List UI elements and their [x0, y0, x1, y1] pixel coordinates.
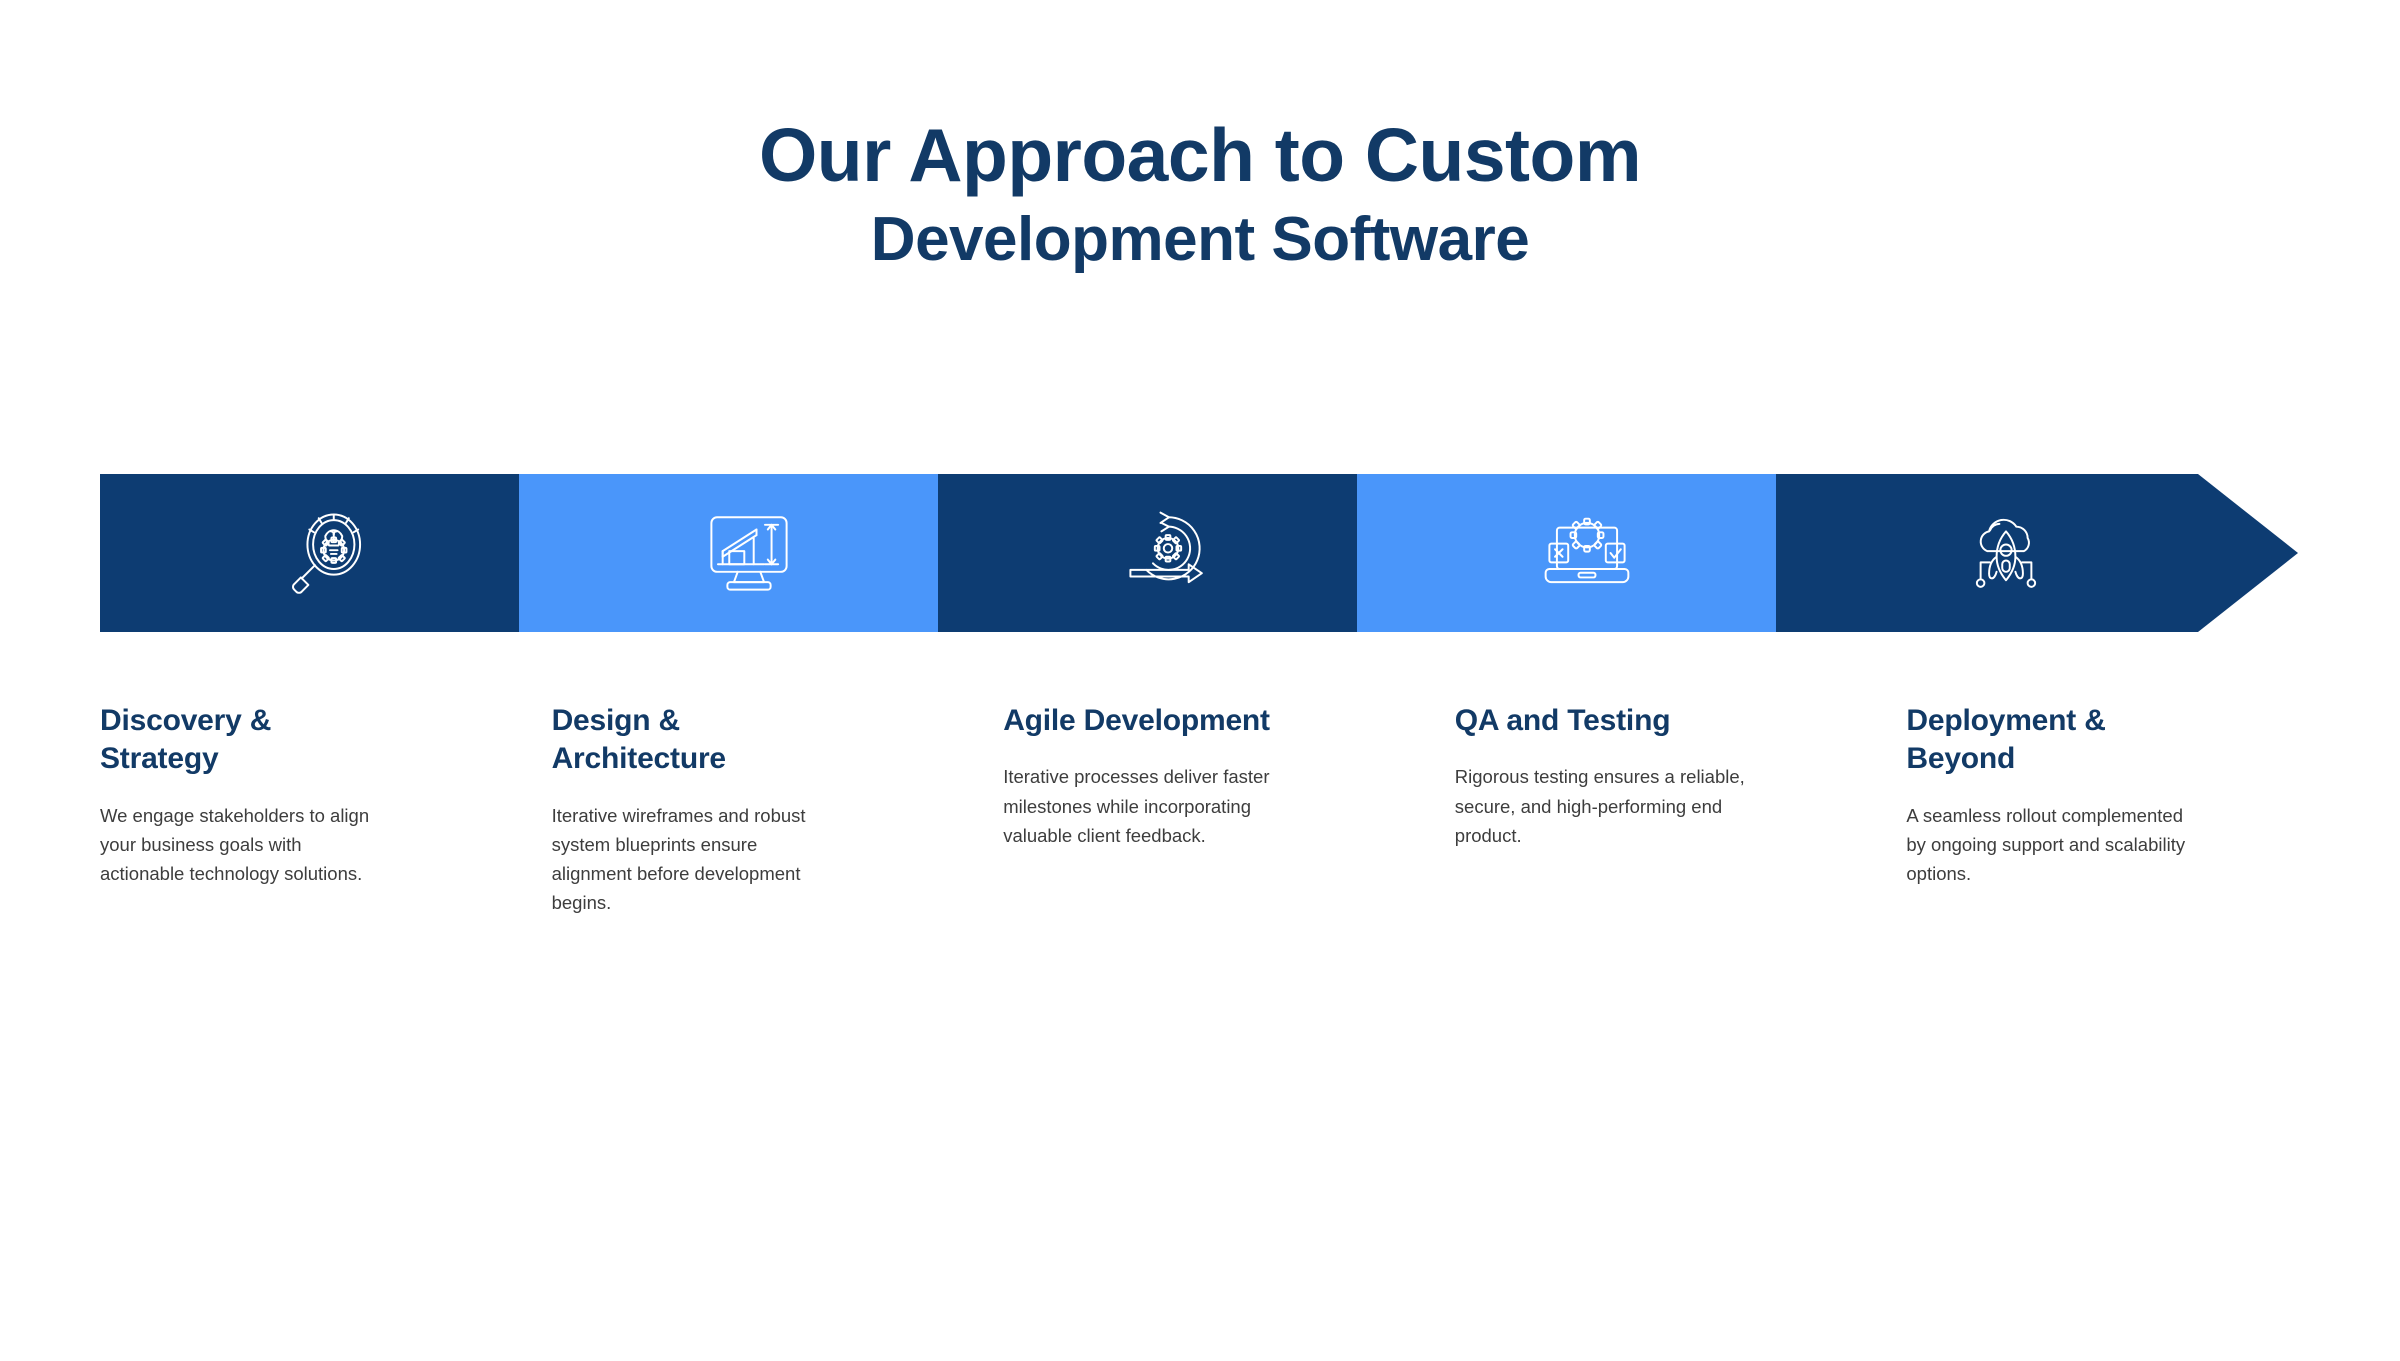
process-step-column-2: Design & Architecture Iterative wirefram…	[552, 702, 946, 918]
process-step-column-4: QA and Testing Rigorous testing ensures …	[1455, 702, 1849, 918]
page-title: Our Approach to Custom Development Softw…	[0, 118, 2400, 271]
process-chevron-banner	[100, 474, 2298, 632]
page-title-line-1: Our Approach to Custom	[0, 118, 2400, 193]
step-description-deployment: A seamless rollout complemented by ongoi…	[1906, 801, 2196, 889]
page-title-line-2: Development Software	[0, 209, 2400, 271]
step-title-agile: Agile Development	[1003, 702, 1293, 740]
chevron-segment-5[interactable]	[1776, 474, 2298, 632]
process-step-columns: Discovery & Strategy We engage stakehold…	[100, 702, 2300, 918]
step-title-deployment: Deployment & Beyond	[1906, 702, 2196, 779]
step-description-design: Iterative wireframes and robust system b…	[552, 801, 842, 918]
process-step-column-3: Agile Development Iterative processes de…	[1003, 702, 1397, 918]
step-description-agile: Iterative processes deliver faster miles…	[1003, 762, 1293, 850]
step-description-qa: Rigorous testing ensures a reliable, sec…	[1455, 762, 1745, 850]
process-step-column-1: Discovery & Strategy We engage stakehold…	[100, 702, 494, 918]
step-title-discovery: Discovery & Strategy	[100, 702, 390, 779]
step-title-design: Design & Architecture	[552, 702, 842, 779]
step-description-discovery: We engage stakeholders to align your bus…	[100, 801, 390, 889]
step-title-qa: QA and Testing	[1455, 702, 1745, 740]
process-step-column-5: Deployment & Beyond A seamless rollout c…	[1906, 702, 2300, 918]
